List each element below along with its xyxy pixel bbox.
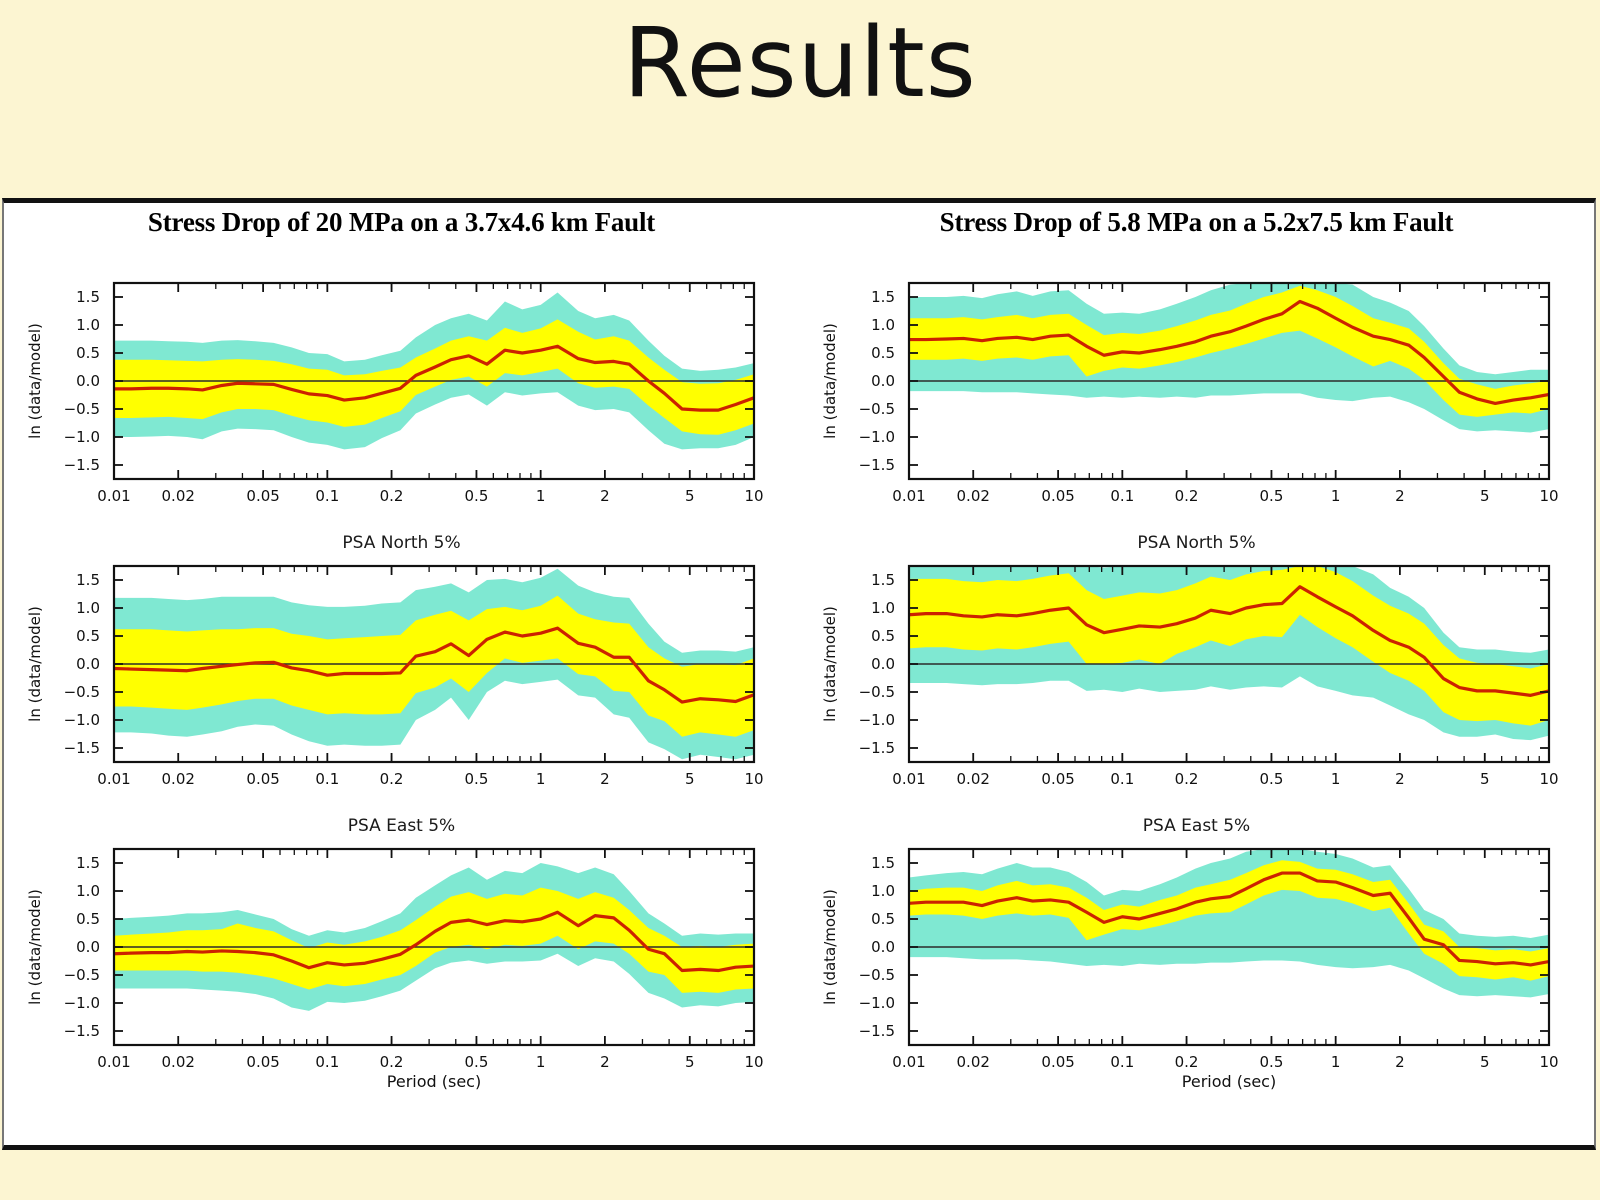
y-axis-tick-label: 0.5 [76, 344, 100, 362]
x-axis-tick-label: 0.2 [1174, 487, 1198, 505]
y-axis-tick-label: 0.0 [76, 372, 100, 390]
y-axis-title: ln (data/model) [821, 889, 839, 1005]
chart-panel-right-row3: PSA East 5% 0.010.020.050.10.20.5125101.… [799, 813, 1594, 1096]
x-axis-tick-label: 1 [535, 770, 545, 788]
y-axis-tick-label: 0.5 [76, 627, 100, 645]
x-axis-tick-label: 0.05 [1041, 1053, 1074, 1071]
x-axis-tick-label: 1 [1330, 770, 1340, 788]
x-axis-tick-label: 0.5 [464, 487, 488, 505]
y-axis-tick-label: −1.0 [63, 711, 99, 729]
y-axis-tick-label: 1.0 [871, 599, 895, 617]
page-title: Results [0, 8, 1600, 118]
x-axis-tick-label: 5 [1480, 770, 1490, 788]
x-axis-tick-label: 5 [685, 487, 695, 505]
x-axis-tick-label: 0.05 [246, 1053, 279, 1071]
x-axis-tick-label: 0.5 [464, 1053, 488, 1071]
chart-right-row1: 0.010.020.050.10.20.5125101.51.00.50.0−0… [817, 273, 1577, 525]
x-axis-tick-label: 10 [1539, 487, 1558, 505]
x-axis-tick-label: 10 [1539, 1053, 1558, 1071]
y-axis-tick-label: 1.5 [871, 854, 895, 872]
y-axis-title: ln (data/model) [821, 323, 839, 439]
y-axis-tick-label: −1.5 [63, 739, 99, 757]
x-axis-tick-label: 5 [1480, 487, 1490, 505]
y-axis-tick-label: 1.0 [871, 316, 895, 334]
x-axis-tick-label: 0.2 [1174, 770, 1198, 788]
figure-panel: Stress Drop of 20 MPa on a 3.7x4.6 km Fa… [2, 198, 1596, 1150]
column-header-right: Stress Drop of 5.8 MPa on a 5.2x7.5 km F… [799, 207, 1594, 238]
y-axis-tick-label: 0.0 [871, 655, 895, 673]
x-axis-tick-label: 1 [535, 487, 545, 505]
x-axis-tick-label: 2 [1395, 1053, 1405, 1071]
x-axis-tick-label: 0.01 [97, 1053, 130, 1071]
chart-left-row3: 0.010.020.050.10.20.5125101.51.00.50.0−0… [22, 839, 782, 1091]
chart-grid: 0.010.020.050.10.20.5125101.51.00.50.0−0… [4, 247, 1594, 1096]
y-axis-tick-label: −1.0 [858, 711, 894, 729]
x-axis-tick-label: 0.2 [1174, 1053, 1198, 1071]
y-axis-tick-label: 1.5 [871, 571, 895, 589]
y-axis-tick-label: 0.5 [76, 910, 100, 928]
plot-host: 0.010.020.050.10.20.5125101.51.00.50.0−0… [4, 839, 799, 1091]
y-axis-tick-label: −1.0 [63, 428, 99, 446]
y-axis-tick-label: −1.5 [858, 739, 894, 757]
x-axis-tick-label: 0.5 [464, 770, 488, 788]
x-axis-tick-label: 2 [600, 1053, 610, 1071]
x-axis-tick-label: 10 [1539, 770, 1558, 788]
plot-host: 0.010.020.050.10.20.5125101.51.00.50.0−0… [799, 839, 1594, 1091]
x-axis-tick-label: 0.1 [1110, 1053, 1134, 1071]
x-axis-tick-label: 0.2 [379, 487, 403, 505]
y-axis-tick-label: 1.0 [871, 882, 895, 900]
chart-right-row2: 0.010.020.050.10.20.5125101.51.00.50.0−0… [817, 556, 1577, 808]
x-axis-tick-label: 0.02 [161, 487, 194, 505]
x-axis-tick-label: 1 [535, 1053, 545, 1071]
x-axis-tick-label: 2 [600, 770, 610, 788]
y-axis-tick-label: 0.0 [76, 938, 100, 956]
x-axis-tick-label: 0.02 [956, 487, 989, 505]
y-axis-title: ln (data/model) [821, 606, 839, 722]
x-axis-tick-label: 10 [744, 487, 763, 505]
x-axis-tick-label: 0.5 [1259, 770, 1283, 788]
x-axis-tick-label: 0.2 [379, 770, 403, 788]
x-axis-tick-label: 0.01 [97, 487, 130, 505]
column-headers: Stress Drop of 20 MPa on a 3.7x4.6 km Fa… [4, 207, 1594, 238]
chart-panel-left-row3: PSA East 5% 0.010.020.050.10.20.5125101.… [4, 813, 799, 1096]
y-axis-tick-label: −1.0 [858, 428, 894, 446]
y-axis-tick-label: 1.5 [76, 854, 100, 872]
y-axis-tick-label: 1.5 [871, 288, 895, 306]
y-axis-tick-label: −0.5 [858, 683, 894, 701]
y-axis-tick-label: −0.5 [63, 966, 99, 984]
x-axis-tick-label: 2 [600, 487, 610, 505]
x-axis-tick-label: 0.02 [161, 770, 194, 788]
y-axis-tick-label: 1.0 [76, 599, 100, 617]
y-axis-tick-label: −1.0 [858, 994, 894, 1012]
y-axis-tick-label: −0.5 [858, 966, 894, 984]
y-axis-tick-label: 0.0 [76, 655, 100, 673]
y-axis-tick-label: 1.0 [76, 316, 100, 334]
x-axis-tick-label: 0.2 [379, 1053, 403, 1071]
chart-panel-left-row2: PSA North 5% 0.010.020.050.10.20.5125101… [4, 530, 799, 813]
y-axis-tick-label: 0.5 [871, 344, 895, 362]
plot-host: 0.010.020.050.10.20.5125101.51.00.50.0−0… [799, 556, 1594, 808]
x-axis-tick-label: 0.05 [1041, 770, 1074, 788]
x-axis-tick-label: 0.5 [1259, 487, 1283, 505]
y-axis-tick-label: −1.0 [63, 994, 99, 1012]
chart-left-row2: 0.010.020.050.10.20.5125101.51.00.50.0−0… [22, 556, 782, 808]
outer-confidence-band [909, 849, 1549, 997]
y-axis-title: ln (data/model) [26, 889, 44, 1005]
x-axis-title: Period (sec) [1181, 1072, 1275, 1091]
chart-title-right-row3: PSA East 5% [799, 813, 1594, 839]
y-axis-title: ln (data/model) [26, 606, 44, 722]
y-axis-tick-label: 1.0 [76, 882, 100, 900]
x-axis-tick-label: 0.01 [892, 487, 925, 505]
x-axis-tick-label: 0.02 [956, 770, 989, 788]
y-axis-tick-label: 0.5 [871, 910, 895, 928]
x-axis-tick-label: 0.05 [1041, 487, 1074, 505]
y-axis-tick-label: −1.5 [63, 1022, 99, 1040]
x-axis-tick-label: 0.1 [1110, 487, 1134, 505]
x-axis-tick-label: 0.02 [956, 1053, 989, 1071]
chart-right-row3: 0.010.020.050.10.20.5125101.51.00.50.0−0… [817, 839, 1577, 1091]
x-axis-tick-label: 0.5 [1259, 1053, 1283, 1071]
x-axis-tick-label: 0.01 [892, 1053, 925, 1071]
plot-host: 0.010.020.050.10.20.5125101.51.00.50.0−0… [4, 273, 799, 525]
y-axis-tick-label: 0.0 [871, 938, 895, 956]
x-axis-tick-label: 0.1 [315, 1053, 339, 1071]
y-axis-tick-label: −1.5 [858, 456, 894, 474]
chart-panel-right-row1: 0.010.020.050.10.20.5125101.51.00.50.0−0… [799, 247, 1594, 530]
x-axis-tick-label: 1 [1330, 487, 1340, 505]
x-axis-title: Period (sec) [386, 1072, 480, 1091]
y-axis-tick-label: 0.0 [871, 372, 895, 390]
y-axis-tick-label: −0.5 [63, 683, 99, 701]
x-axis-tick-label: 0.05 [246, 770, 279, 788]
x-axis-tick-label: 5 [685, 770, 695, 788]
x-axis-tick-label: 1 [1330, 1053, 1340, 1071]
x-axis-tick-label: 0.01 [892, 770, 925, 788]
chart-panel-left-row1: 0.010.020.050.10.20.5125101.51.00.50.0−0… [4, 247, 799, 530]
chart-left-row1: 0.010.020.050.10.20.5125101.51.00.50.0−0… [22, 273, 782, 525]
x-axis-tick-label: 2 [1395, 487, 1405, 505]
x-axis-tick-label: 10 [744, 770, 763, 788]
y-axis-tick-label: −0.5 [63, 400, 99, 418]
column-header-left: Stress Drop of 20 MPa on a 3.7x4.6 km Fa… [4, 207, 799, 238]
chart-title-left-row3: PSA East 5% [4, 813, 799, 839]
x-axis-tick-label: 0.1 [315, 487, 339, 505]
x-axis-tick-label: 0.02 [161, 1053, 194, 1071]
chart-panel-right-row2: PSA North 5% 0.010.020.050.10.20.5125101… [799, 530, 1594, 813]
chart-title-left-row2: PSA North 5% [4, 530, 799, 556]
x-axis-tick-label: 0.1 [315, 770, 339, 788]
chart-column-left: 0.010.020.050.10.20.5125101.51.00.50.0−0… [4, 247, 799, 1096]
chart-title-right-row2: PSA North 5% [799, 530, 1594, 556]
x-axis-tick-label: 5 [1480, 1053, 1490, 1071]
x-axis-tick-label: 10 [744, 1053, 763, 1071]
plot-host: 0.010.020.050.10.20.5125101.51.00.50.0−0… [4, 556, 799, 808]
y-axis-tick-label: 1.5 [76, 288, 100, 306]
y-axis-tick-label: 1.5 [76, 571, 100, 589]
plot-host: 0.010.020.050.10.20.5125101.51.00.50.0−0… [799, 273, 1594, 525]
y-axis-tick-label: −1.5 [63, 456, 99, 474]
y-axis-tick-label: 0.5 [871, 627, 895, 645]
y-axis-tick-label: −1.5 [858, 1022, 894, 1040]
x-axis-tick-label: 2 [1395, 770, 1405, 788]
y-axis-title: ln (data/model) [26, 323, 44, 439]
x-axis-tick-label: 0.01 [97, 770, 130, 788]
x-axis-tick-label: 5 [685, 1053, 695, 1071]
chart-column-right: 0.010.020.050.10.20.5125101.51.00.50.0−0… [799, 247, 1594, 1096]
presentation-slide: Results Stress Drop of 20 MPa on a 3.7x4… [0, 0, 1600, 1200]
y-axis-tick-label: −0.5 [858, 400, 894, 418]
x-axis-tick-label: 0.05 [246, 487, 279, 505]
x-axis-tick-label: 0.1 [1110, 770, 1134, 788]
